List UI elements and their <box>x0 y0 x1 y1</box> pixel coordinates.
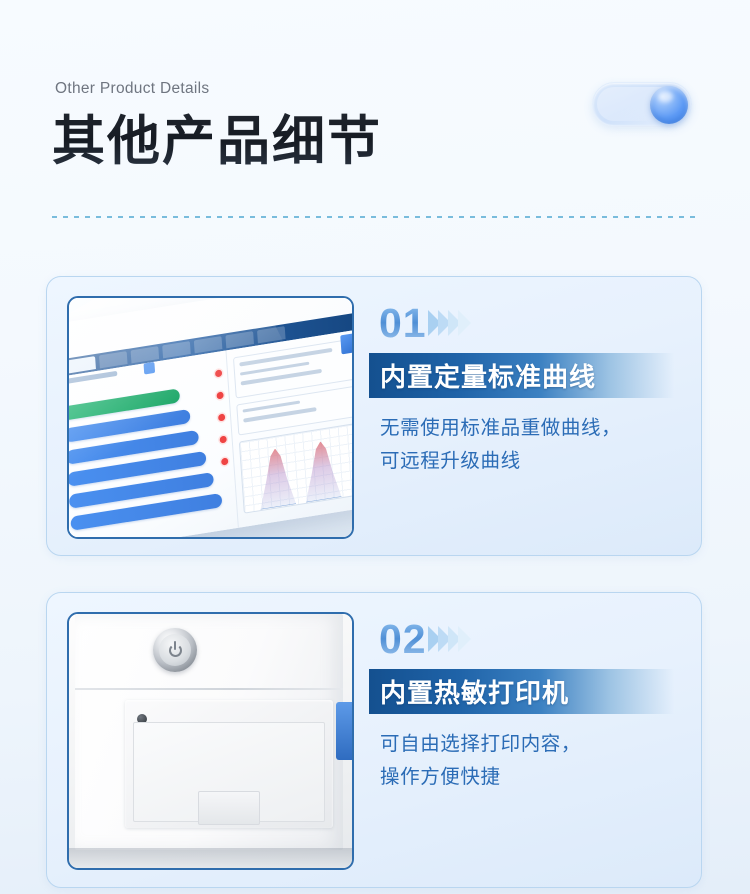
panel-seam <box>75 688 343 690</box>
printer-door[interactable] <box>125 700 333 828</box>
device-shadow <box>69 848 352 868</box>
feature-card-02[interactable]: 02 内置热敏打印机 可自由选择打印内容， 操作方便快捷 <box>46 592 702 888</box>
analyzer-touchscreen-photo <box>67 296 354 539</box>
card-number-row: 02 <box>369 615 687 663</box>
toggle-knob[interactable] <box>650 86 688 124</box>
card-title-bar: 内置定量标准曲线 <box>369 353 687 398</box>
thermal-printer-photo <box>67 612 354 870</box>
curve-peak <box>302 439 342 503</box>
card-description: 无需使用标准品重做曲线， 可远程升级曲线 <box>369 412 687 478</box>
card-description: 可自由选择打印内容， 操作方便快捷 <box>369 728 687 794</box>
feature-card-01[interactable]: 01 内置定量标准曲线 无需使用标准品重做曲线， 可远程升级曲线 <box>46 276 702 556</box>
card-title-bar: 内置热敏打印机 <box>369 669 687 714</box>
curve-chart <box>239 420 354 513</box>
page-title: 其他产品细节 <box>52 112 382 173</box>
card-number: 01 <box>379 303 427 344</box>
result-detail-panel <box>226 328 354 528</box>
status-dot <box>216 391 223 399</box>
user-icon <box>143 362 155 375</box>
desc-line: 可远程升级曲线 <box>380 445 687 478</box>
card-number-row: 01 <box>369 299 687 347</box>
paper-slot <box>133 722 325 822</box>
card-title: 内置热敏打印机 <box>380 673 569 710</box>
card-02-content: 02 内置热敏打印机 可自由选择打印内容， 操作方便快捷 <box>369 615 687 794</box>
desc-line: 操作方便快捷 <box>380 761 687 794</box>
chevron-right-icon <box>458 626 471 652</box>
power-button-inner <box>159 634 191 666</box>
curve-peak <box>256 446 296 510</box>
eyebrow-text: Other Product Details <box>55 80 209 98</box>
desc-line: 可自由选择打印内容， <box>380 728 687 761</box>
power-icon <box>169 644 182 657</box>
device-body <box>75 614 343 850</box>
card-number: 02 <box>379 619 427 660</box>
chevron-arrows <box>431 626 471 652</box>
card-title: 内置定量标准曲线 <box>380 357 596 394</box>
app-logo-icon <box>340 332 354 354</box>
touchscreen-monitor <box>67 296 354 539</box>
chevron-right-icon <box>458 310 471 336</box>
sample-list-panel <box>67 350 239 539</box>
card-01-content: 01 内置定量标准曲线 无需使用标准品重做曲线， 可远程升级曲线 <box>369 299 687 478</box>
dashed-divider <box>52 216 698 218</box>
status-dot <box>215 369 222 377</box>
status-dot <box>220 435 227 443</box>
status-dot <box>218 413 225 421</box>
door-latch[interactable] <box>198 791 260 825</box>
page-header: Other Product Details 其他产品细节 <box>0 0 750 240</box>
desc-line: 无需使用标准品重做曲线， <box>380 412 687 445</box>
power-button[interactable] <box>153 628 197 672</box>
chevron-arrows <box>431 310 471 336</box>
blue-accent-tab <box>336 702 352 760</box>
detail-toggle[interactable] <box>592 82 692 126</box>
status-dot <box>221 457 228 465</box>
